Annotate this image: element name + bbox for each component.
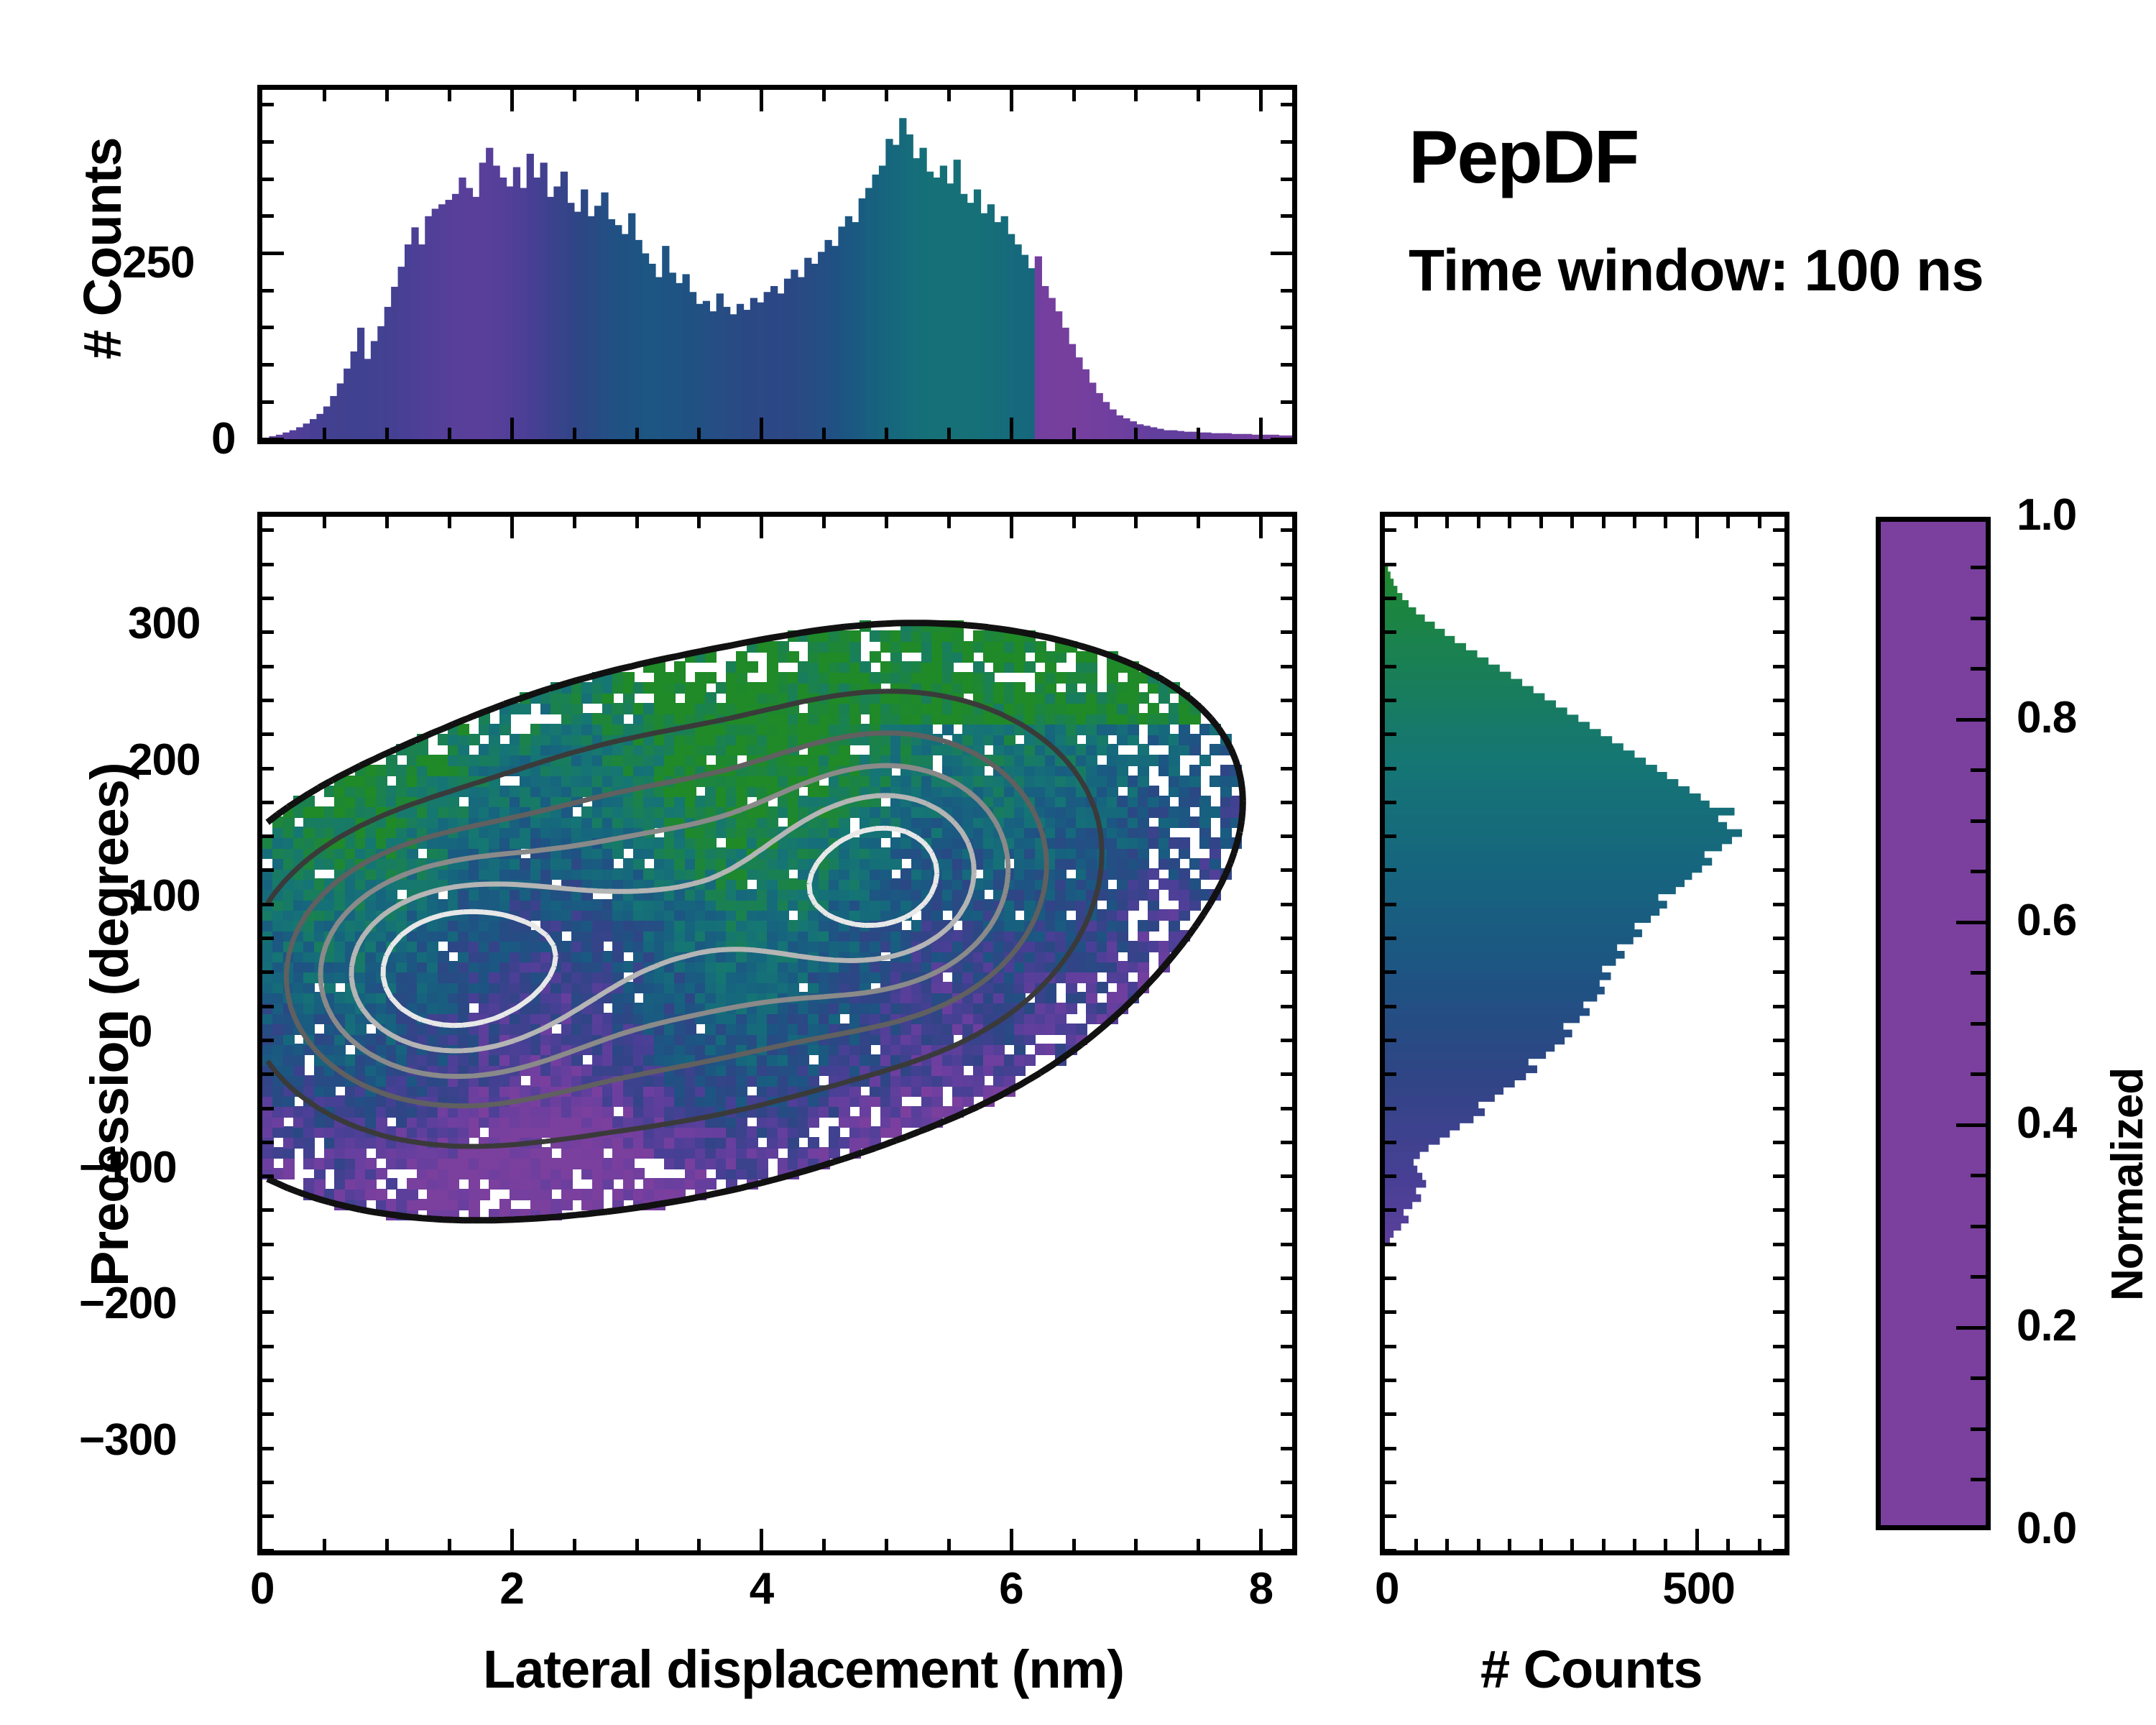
tick-mark xyxy=(385,428,389,439)
tick-mark xyxy=(1956,1326,1991,1330)
tick-mark xyxy=(262,1039,274,1042)
tick-mark xyxy=(1134,90,1138,101)
tick-mark xyxy=(1971,870,1991,873)
right-hist-axis-title: # Counts xyxy=(1480,1639,1703,1700)
tick-mark xyxy=(1281,970,1292,974)
tick-mark xyxy=(1281,1174,1292,1178)
tick-mark xyxy=(385,517,389,528)
colorbar-ticklabel: 1.0 xyxy=(2017,489,2076,540)
tick-mark xyxy=(262,834,274,838)
tick-mark xyxy=(1134,1539,1138,1550)
tick-mark xyxy=(262,252,284,255)
tick-mark xyxy=(1385,1107,1396,1110)
tick-mark xyxy=(323,517,326,528)
tick-mark xyxy=(1385,699,1396,702)
tick-mark xyxy=(1956,1527,1991,1530)
tick-mark xyxy=(1281,1107,1292,1110)
tick-mark xyxy=(885,1539,888,1550)
tick-mark xyxy=(1281,665,1292,668)
tick-mark xyxy=(1773,868,1784,872)
tick-mark xyxy=(1281,1412,1292,1416)
tick-mark xyxy=(1633,517,1636,528)
tick-mark xyxy=(1773,1345,1784,1348)
tick-mark xyxy=(1570,517,1574,528)
tick-mark xyxy=(1956,921,1991,924)
tick-mark xyxy=(262,767,274,770)
tick-mark xyxy=(1971,1275,1991,1279)
main-x-ticklabel: 2 xyxy=(499,1563,523,1614)
tick-mark xyxy=(1773,528,1784,532)
tick-mark xyxy=(760,90,763,111)
tick-mark xyxy=(885,428,888,439)
tick-mark xyxy=(1971,1427,1991,1431)
tick-mark xyxy=(947,1539,951,1550)
tick-mark xyxy=(1281,1310,1292,1314)
tick-mark xyxy=(1695,517,1699,538)
tick-mark xyxy=(448,428,451,439)
tick-mark xyxy=(1281,1447,1292,1450)
tick-mark xyxy=(1385,1243,1396,1246)
tick-mark xyxy=(1134,428,1138,439)
tick-mark xyxy=(1773,563,1784,566)
tick-mark xyxy=(448,90,451,101)
tick-mark xyxy=(1726,517,1730,528)
tick-mark xyxy=(1445,517,1449,528)
tick-mark xyxy=(1773,1141,1784,1144)
tick-mark xyxy=(1726,1539,1730,1550)
tick-mark xyxy=(573,517,576,528)
tick-mark xyxy=(1414,517,1418,528)
tick-mark xyxy=(1633,1539,1636,1550)
tick-mark xyxy=(1281,1005,1292,1008)
tick-mark xyxy=(1385,970,1396,974)
colorbar-ticklabel: 0.8 xyxy=(2017,692,2076,743)
tick-mark xyxy=(1773,970,1784,974)
tick-mark xyxy=(1259,1529,1263,1550)
main-y-ticklabel: −300 xyxy=(79,1414,177,1466)
tick-mark xyxy=(262,1005,274,1008)
tick-mark xyxy=(697,517,701,528)
tick-mark xyxy=(262,1107,274,1110)
tick-mark xyxy=(1385,597,1396,600)
tick-mark xyxy=(1773,1549,1784,1552)
colorbar-ticklabel: 0.0 xyxy=(2017,1503,2076,1554)
tick-mark xyxy=(635,90,639,101)
tick-mark xyxy=(1971,566,1991,569)
tick-mark xyxy=(1971,667,1991,671)
tick-mark xyxy=(1956,517,1991,520)
tick-mark xyxy=(1197,517,1200,528)
tick-mark xyxy=(1072,90,1076,101)
tick-mark xyxy=(1010,1529,1013,1550)
main-y-axis-title: Precession (degrees) xyxy=(79,763,140,1287)
tick-mark xyxy=(262,630,274,634)
tick-mark xyxy=(1971,617,1991,620)
tick-mark xyxy=(697,1539,701,1550)
tick-mark xyxy=(510,90,514,111)
tick-mark xyxy=(1281,801,1292,804)
tick-mark xyxy=(1281,732,1292,736)
tick-mark xyxy=(262,665,274,668)
tick-mark xyxy=(1281,1141,1292,1144)
tick-mark xyxy=(1385,1514,1396,1518)
tick-mark xyxy=(1539,1539,1543,1550)
tick-mark xyxy=(1758,517,1761,528)
tick-mark xyxy=(1445,1539,1449,1550)
tick-mark xyxy=(1956,718,1991,722)
tick-mark xyxy=(1773,903,1784,906)
main-x-axis-title: Lateral displacement (nm) xyxy=(483,1639,1124,1700)
tick-mark xyxy=(1134,517,1138,528)
tick-mark xyxy=(1508,517,1511,528)
tick-mark xyxy=(1773,1039,1784,1042)
tick-mark xyxy=(1281,937,1292,940)
main-x-ticklabel: 8 xyxy=(1249,1563,1273,1614)
tick-mark xyxy=(697,90,701,101)
tick-mark xyxy=(1281,1549,1292,1552)
title-subtitle: Time window: 100 ns xyxy=(1409,237,1984,305)
tick-mark xyxy=(1664,517,1667,528)
tick-mark xyxy=(262,699,274,702)
tick-mark xyxy=(1773,597,1784,600)
tick-mark xyxy=(1508,1539,1511,1550)
top-hist-tick-250: 250 xyxy=(122,237,194,288)
tick-mark xyxy=(1971,1376,1991,1380)
tick-mark xyxy=(1385,528,1396,532)
tick-mark xyxy=(1281,868,1292,872)
tick-mark xyxy=(1385,1174,1396,1178)
colorbar-ticklabel: 0.2 xyxy=(2017,1300,2076,1351)
tick-mark xyxy=(262,214,274,218)
tick-mark xyxy=(1477,517,1480,528)
tick-mark xyxy=(1271,438,1292,441)
tick-mark xyxy=(1281,326,1292,329)
tick-mark xyxy=(1385,1379,1396,1382)
tick-mark xyxy=(1971,1022,1991,1026)
tick-mark xyxy=(1281,597,1292,600)
tick-mark xyxy=(1197,1539,1200,1550)
tick-mark xyxy=(262,937,274,940)
tick-mark xyxy=(1385,1447,1396,1450)
tick-mark xyxy=(385,1539,389,1550)
tick-mark xyxy=(885,517,888,528)
tick-mark xyxy=(1773,1310,1784,1314)
tick-mark xyxy=(635,517,639,528)
tick-mark xyxy=(1281,699,1292,702)
main-x-ticklabel: 0 xyxy=(250,1563,274,1614)
tick-mark xyxy=(1971,971,1991,975)
tick-mark xyxy=(510,1529,514,1550)
tick-mark xyxy=(1539,517,1543,528)
tick-mark xyxy=(323,1539,326,1550)
tick-mark xyxy=(510,517,514,538)
top-histogram-canvas xyxy=(262,90,1292,439)
tick-mark xyxy=(1385,1276,1396,1280)
tick-mark xyxy=(1773,801,1784,804)
tick-mark xyxy=(1281,140,1292,144)
tick-mark xyxy=(573,428,576,439)
tick-mark xyxy=(262,1243,274,1246)
tick-mark xyxy=(262,326,274,329)
tick-mark xyxy=(1570,1539,1574,1550)
tick-mark xyxy=(822,1539,826,1550)
tick-mark xyxy=(822,517,826,528)
tick-mark xyxy=(1385,903,1396,906)
tick-mark xyxy=(1971,1174,1991,1177)
tick-mark xyxy=(1385,834,1396,838)
tick-mark xyxy=(1971,819,1991,823)
tick-mark xyxy=(1385,1039,1396,1042)
tick-mark xyxy=(1281,1208,1292,1212)
tick-mark xyxy=(1773,1379,1784,1382)
tick-mark xyxy=(1281,1243,1292,1246)
tick-mark xyxy=(1281,1514,1292,1518)
tick-mark xyxy=(1956,1123,1991,1127)
tick-mark xyxy=(1281,1039,1292,1042)
tick-mark xyxy=(1259,90,1263,111)
tick-mark xyxy=(262,1072,274,1076)
main-heatmap-canvas xyxy=(262,517,1292,1550)
tick-mark xyxy=(262,801,274,804)
tick-mark xyxy=(573,90,576,101)
tick-mark xyxy=(1971,1225,1991,1228)
tick-mark xyxy=(573,1539,576,1550)
tick-mark xyxy=(1385,1208,1396,1212)
tick-mark xyxy=(1259,418,1263,439)
tick-mark xyxy=(1385,665,1396,668)
tick-mark xyxy=(1271,252,1292,255)
tick-mark xyxy=(1602,517,1606,528)
tick-mark xyxy=(262,1447,274,1450)
tick-mark xyxy=(1773,1174,1784,1178)
tick-mark xyxy=(262,1345,274,1348)
tick-mark xyxy=(1281,1345,1292,1348)
tick-mark xyxy=(1281,400,1292,404)
tick-mark xyxy=(262,289,274,293)
tick-mark xyxy=(1385,630,1396,634)
tick-mark xyxy=(1385,732,1396,736)
tick-mark xyxy=(1385,1412,1396,1416)
tick-mark xyxy=(510,418,514,439)
right-histogram-canvas xyxy=(1385,517,1784,1550)
colorbar-ticklabel: 0.6 xyxy=(2017,895,2076,946)
tick-mark xyxy=(1414,1539,1418,1550)
tick-mark xyxy=(1664,1539,1667,1550)
tick-mark xyxy=(1281,214,1292,218)
tick-mark xyxy=(262,1310,274,1314)
tick-mark xyxy=(1602,1539,1606,1550)
tick-mark xyxy=(262,528,274,532)
tick-mark xyxy=(1197,428,1200,439)
tick-mark xyxy=(1971,768,1991,772)
tick-mark xyxy=(262,868,274,872)
tick-mark xyxy=(1758,1539,1761,1550)
tick-mark xyxy=(697,428,701,439)
tick-mark xyxy=(262,1549,274,1552)
tick-mark xyxy=(1773,1072,1784,1076)
tick-mark xyxy=(262,103,274,106)
tick-mark xyxy=(1385,1549,1396,1552)
tick-mark xyxy=(1281,630,1292,634)
tick-mark xyxy=(1773,1208,1784,1212)
page-title: PepDF xyxy=(1409,115,1638,201)
tick-mark xyxy=(1773,732,1784,736)
tick-mark xyxy=(1773,1107,1784,1110)
tick-mark xyxy=(1281,103,1292,106)
tick-mark xyxy=(635,1539,639,1550)
tick-mark xyxy=(262,1514,274,1518)
tick-mark xyxy=(822,90,826,101)
tick-mark xyxy=(1072,428,1076,439)
tick-mark xyxy=(1385,801,1396,804)
tick-mark xyxy=(385,90,389,101)
tick-mark xyxy=(262,178,274,181)
tick-mark xyxy=(1773,1481,1784,1484)
tick-mark xyxy=(947,517,951,528)
tick-mark xyxy=(1281,1276,1292,1280)
tick-mark xyxy=(1010,517,1013,538)
tick-mark xyxy=(1281,363,1292,367)
tick-mark xyxy=(1281,1379,1292,1382)
tick-mark xyxy=(760,1529,763,1550)
tick-mark xyxy=(262,400,274,404)
tick-mark xyxy=(262,970,274,974)
tick-mark xyxy=(1281,1481,1292,1484)
tick-mark xyxy=(760,517,763,538)
tick-mark xyxy=(262,563,274,566)
tick-mark xyxy=(1259,517,1263,538)
tick-mark xyxy=(262,140,274,144)
tick-mark xyxy=(1281,834,1292,838)
tick-mark xyxy=(1971,1072,1991,1076)
top-hist-tick-0: 0 xyxy=(211,413,235,464)
tick-mark xyxy=(1773,1243,1784,1246)
tick-mark xyxy=(1281,903,1292,906)
tick-mark xyxy=(448,517,451,528)
tick-mark xyxy=(1773,1412,1784,1416)
tick-mark xyxy=(262,1276,274,1280)
tick-mark xyxy=(1773,767,1784,770)
tick-mark xyxy=(947,90,951,101)
tick-mark xyxy=(1385,767,1396,770)
tick-mark xyxy=(1010,90,1013,111)
tick-mark xyxy=(1281,289,1292,293)
tick-mark xyxy=(262,1379,274,1382)
tick-mark xyxy=(1385,1141,1396,1144)
tick-mark xyxy=(1773,699,1784,702)
tick-mark xyxy=(1773,1276,1784,1280)
tick-mark xyxy=(262,1481,274,1484)
tick-mark xyxy=(262,1174,274,1178)
tick-mark xyxy=(1773,1005,1784,1008)
tick-mark xyxy=(1385,1481,1396,1484)
tick-mark xyxy=(262,903,274,906)
colorbar-ticklabel: 0.4 xyxy=(2017,1098,2076,1149)
tick-mark xyxy=(1773,1447,1784,1450)
main-y-ticklabel: 300 xyxy=(128,598,200,649)
tick-mark xyxy=(885,90,888,101)
right-hist-ticklabel: 500 xyxy=(1662,1563,1734,1614)
tick-mark xyxy=(1197,90,1200,101)
tick-mark xyxy=(1773,937,1784,940)
tick-mark xyxy=(1385,937,1396,940)
tick-mark xyxy=(262,363,274,367)
tick-mark xyxy=(323,90,326,101)
tick-mark xyxy=(1695,1529,1699,1550)
top-hist-axis-title: # Counts xyxy=(72,137,133,359)
colorbar-axis-title: Normalized Mean Time xyxy=(2102,1068,2156,1301)
right-hist-ticklabel: 0 xyxy=(1375,1563,1399,1614)
tick-mark xyxy=(1281,767,1292,770)
tick-mark xyxy=(262,1412,274,1416)
tick-mark xyxy=(1773,834,1784,838)
tick-mark xyxy=(1477,1539,1480,1550)
tick-mark xyxy=(262,1141,274,1144)
tick-mark xyxy=(1773,665,1784,668)
tick-mark xyxy=(262,732,274,736)
tick-mark xyxy=(822,428,826,439)
tick-mark xyxy=(1010,418,1013,439)
tick-mark xyxy=(1385,1345,1396,1348)
tick-mark xyxy=(947,428,951,439)
tick-mark xyxy=(1773,630,1784,634)
tick-mark xyxy=(1773,1514,1784,1518)
tick-mark xyxy=(1281,563,1292,566)
tick-mark xyxy=(1971,1478,1991,1481)
tick-mark xyxy=(262,597,274,600)
tick-mark xyxy=(262,438,284,441)
tick-mark xyxy=(1281,1072,1292,1076)
tick-mark xyxy=(635,428,639,439)
tick-mark xyxy=(1385,1005,1396,1008)
tick-mark xyxy=(1385,868,1396,872)
tick-mark xyxy=(760,418,763,439)
tick-mark xyxy=(1385,1072,1396,1076)
figure-root: 0 250 # Counts PepDF Time window: 100 ns… xyxy=(0,0,2156,1725)
tick-mark xyxy=(448,1539,451,1550)
tick-mark xyxy=(1072,517,1076,528)
main-x-ticklabel: 4 xyxy=(750,1563,773,1614)
tick-mark xyxy=(1281,178,1292,181)
tick-mark xyxy=(1385,1310,1396,1314)
main-x-ticklabel: 6 xyxy=(999,1563,1023,1614)
tick-mark xyxy=(1385,563,1396,566)
tick-mark xyxy=(1072,1539,1076,1550)
tick-mark xyxy=(323,428,326,439)
tick-mark xyxy=(262,1208,274,1212)
tick-mark xyxy=(1281,528,1292,532)
